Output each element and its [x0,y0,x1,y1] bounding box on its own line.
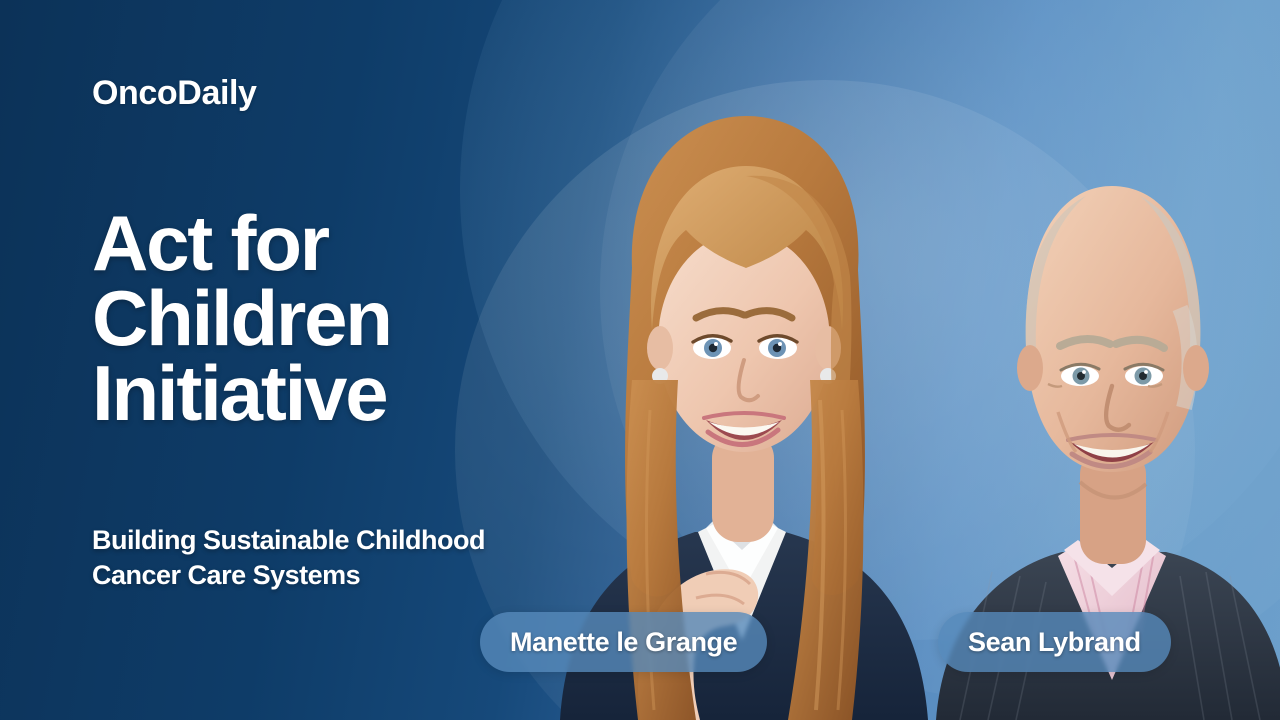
video-thumbnail-canvas: OncoDaily Act for Children Initiative Bu… [0,0,1280,720]
page-title: Act for Children Initiative [92,206,562,431]
man-ear-right [1183,345,1209,391]
speaker-name-badge-2: Sean Lybrand [938,612,1171,672]
speaker-name-label: Sean Lybrand [968,627,1141,658]
title-line-1: Act for [92,206,562,281]
subtitle-line-1: Building Sustainable Childhood [92,523,652,558]
woman-ear-left [647,326,673,370]
title-line-3: Initiative [92,356,562,431]
speaker-name-label: Manette le Grange [510,627,737,658]
title-line-2: Children [92,281,562,356]
brand-logo: OncoDaily [92,74,257,113]
subtitle-line-2: Cancer Care Systems [92,558,652,593]
man-ear-left [1017,345,1043,391]
page-subtitle: Building Sustainable Childhood Cancer Ca… [92,523,652,592]
speaker-name-badge-1: Manette le Grange [480,612,767,672]
